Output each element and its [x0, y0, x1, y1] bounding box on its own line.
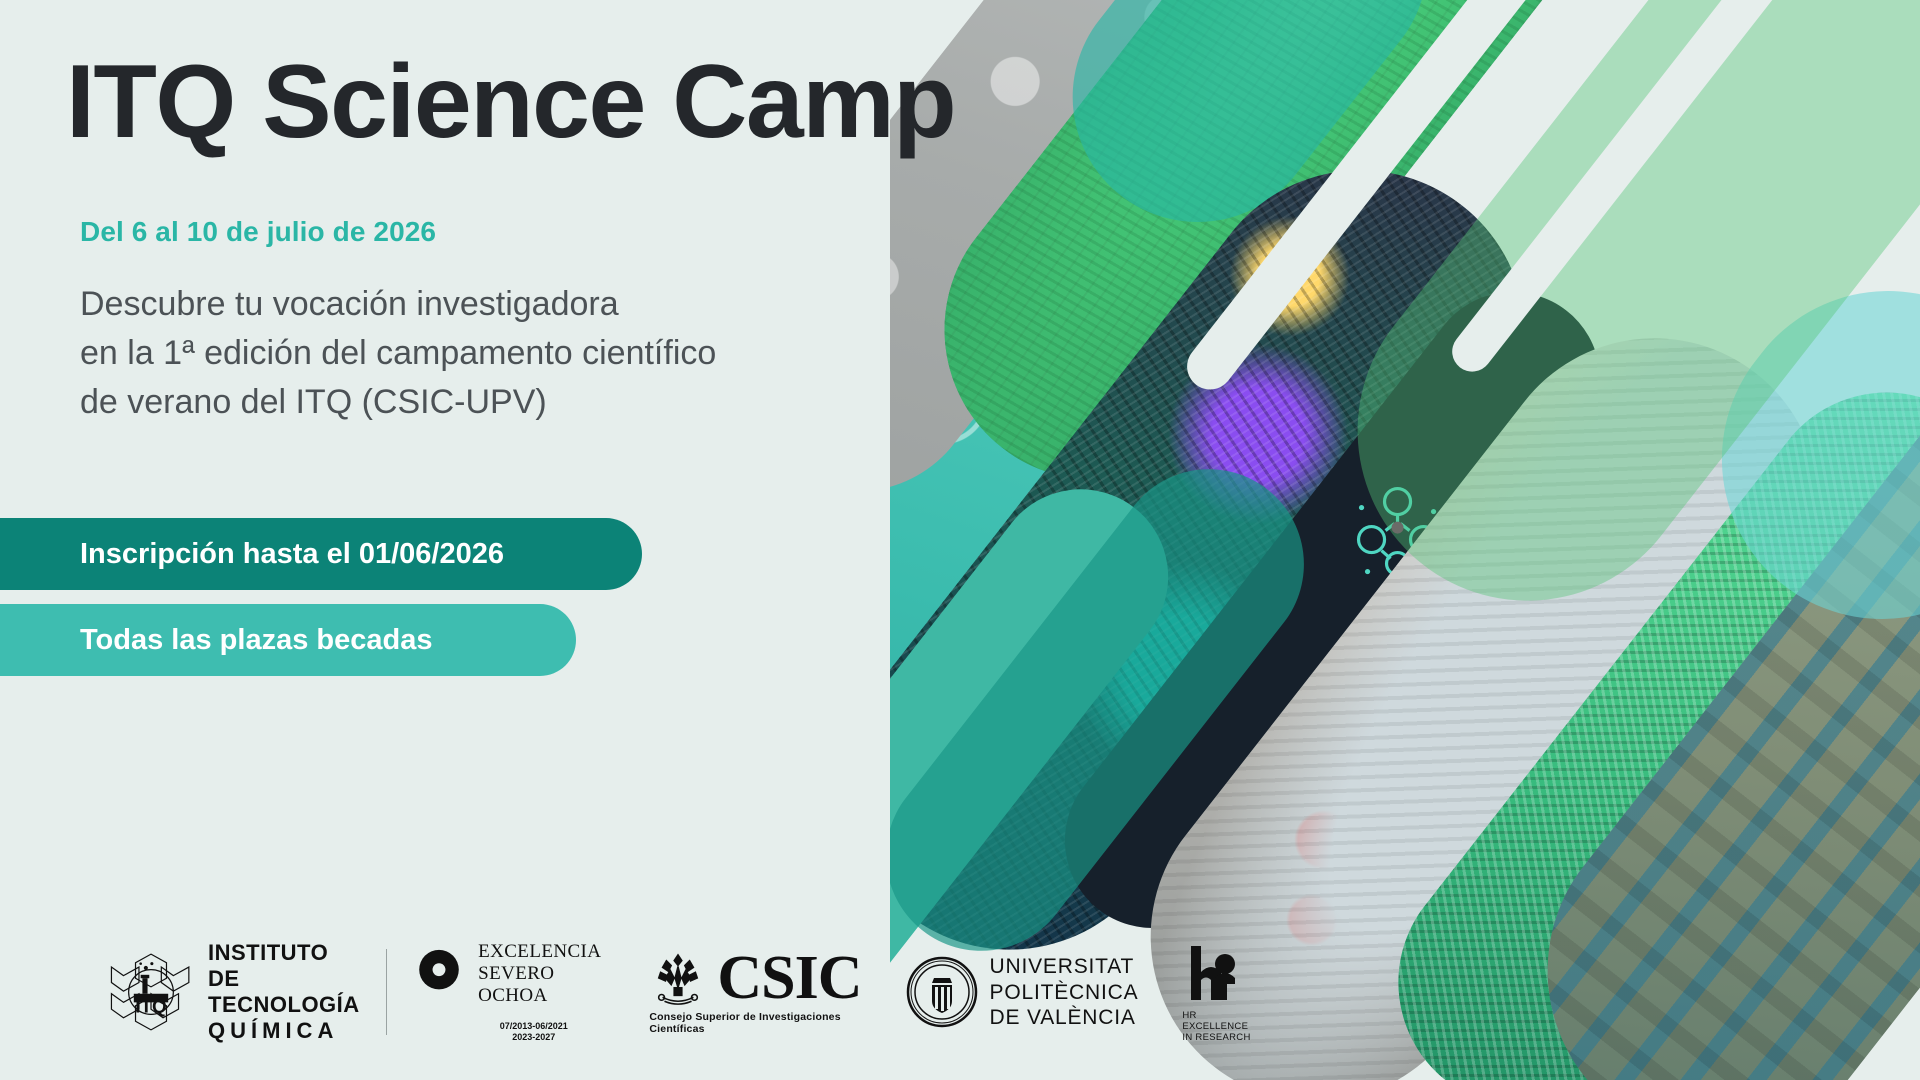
itq-line-2: TECNOLOGÍA: [208, 992, 360, 1018]
so-line-3: OCHOA: [478, 985, 601, 1007]
description-line-2: en la 1ª edición del campamento científi…: [80, 329, 716, 378]
logo-severo-ochoa: EXCELENCIA SEVERO OCHOA 07/2013-06/2021 …: [412, 941, 601, 1044]
csic-wordmark: CSIC: [717, 951, 861, 1007]
logo-hr-excellence: HR EXCELLENCE IN RESEARCH: [1182, 942, 1251, 1043]
upv-wordmark: UNIVERSITAT POLITÈCNICA DE VALÈNCIA: [990, 954, 1139, 1030]
itq-wordmark: INSTITUTO DE TECNOLOGÍA QUÍMICA: [208, 940, 360, 1044]
logo-strip: ITQ INSTITUTO DE TECNOLOGÍA QUÍMICA: [108, 940, 1251, 1044]
itq-line-3: QUÍMICA: [208, 1018, 360, 1044]
hr-excellence-subtitle: HR EXCELLENCE IN RESEARCH: [1182, 1010, 1251, 1043]
severo-ochoa-dates: 07/2013-06/2021 2023-2027: [466, 1021, 601, 1044]
hr-excellence-icon: [1183, 942, 1251, 1004]
logo-itq: ITQ INSTITUTO DE TECNOLOGÍA QUÍMICA: [108, 940, 360, 1044]
page-title: ITQ Science Camp: [66, 48, 955, 157]
itq-zeolite-icon: ITQ: [108, 949, 194, 1035]
so-dates-line-1: 07/2013-06/2021: [466, 1021, 601, 1032]
so-dates-line-2: 2023-2027: [466, 1032, 601, 1043]
upv-line-2: POLITÈCNICA: [990, 980, 1139, 1005]
logo-csic: CSIC Consejo Superior de Investigaciones…: [649, 949, 861, 1035]
severo-ochoa-icon: [412, 949, 466, 1035]
description-line-1: Descubre tu vocación investigadora: [80, 280, 716, 329]
description-text: Descubre tu vocación investigadora en la…: [80, 280, 716, 427]
svg-text:ITQ: ITQ: [135, 997, 167, 1018]
csic-seal-icon: [649, 949, 707, 1009]
so-line-2: SEVERO: [478, 963, 601, 985]
csic-row: CSIC: [649, 949, 861, 1009]
so-line-1: EXCELENCIA: [478, 941, 601, 963]
severo-ochoa-text-group: EXCELENCIA SEVERO OCHOA 07/2013-06/2021 …: [466, 941, 601, 1044]
badge-registration-deadline: Inscripción hasta el 01/06/2026: [0, 518, 642, 590]
upv-line-3: DE VALÈNCIA: [990, 1005, 1139, 1030]
description-line-3: de verano del ITQ (CSIC-UPV): [80, 378, 716, 427]
upv-seal-icon: [906, 956, 978, 1028]
csic-subtitle: Consejo Superior de Investigaciones Cien…: [649, 1011, 861, 1035]
upv-line-1: UNIVERSITAT: [990, 954, 1139, 979]
event-dates: Del 6 al 10 de julio de 2026: [80, 216, 436, 248]
logo-upv: UNIVERSITAT POLITÈCNICA DE VALÈNCIA: [906, 954, 1139, 1030]
severo-ochoa-wordmark: EXCELENCIA SEVERO OCHOA: [478, 941, 601, 1007]
collage-graphic: [890, 0, 1920, 1080]
content-panel: ITQ Science Camp Del 6 al 10 de julio de…: [0, 0, 1030, 1080]
itq-line-1: INSTITUTO DE: [208, 940, 360, 992]
badge-all-places-funded: Todas las plazas becadas: [0, 604, 576, 676]
